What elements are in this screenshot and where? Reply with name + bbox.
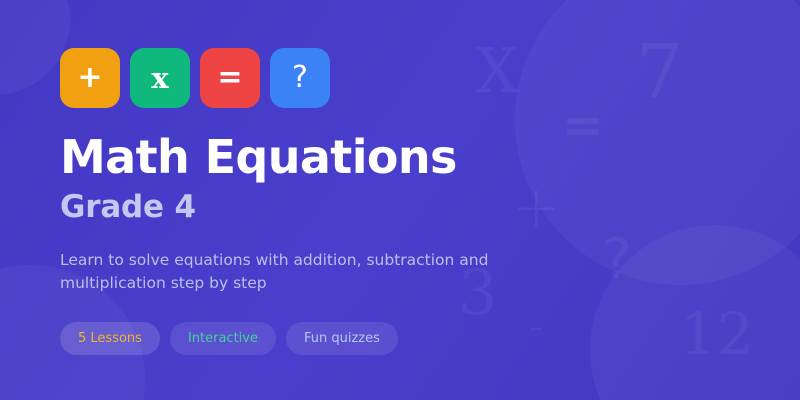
tile-plus[interactable]: + [60,48,120,108]
page-description: Learn to solve equations with addition, … [60,249,510,296]
badge-lessons[interactable]: 5 Lessons [60,322,160,355]
tile-question[interactable]: ? [270,48,330,108]
operator-tile-row: + x = ? [60,48,800,108]
badge-interactive[interactable]: Interactive [170,322,276,355]
badge-interactive-label: Interactive [188,331,258,346]
question-mark-icon: ? [292,63,308,93]
tile-equals[interactable]: = [200,48,260,108]
plus-icon: + [77,63,102,93]
badge-row: 5 Lessons Interactive Fun quizzes [60,322,800,355]
banner-content: + x = ? Math Equations Grade 4 Learn to … [0,0,800,355]
page-title: Math Equations [60,134,800,180]
math-equations-banner: X 7 = + ? 3 - 12 + x = ? Math Equations … [0,0,800,400]
badge-quizzes-label: Fun quizzes [304,331,380,346]
page-subtitle: Grade 4 [60,192,800,223]
tile-multiply[interactable]: x [130,48,190,108]
equals-icon: = [217,63,242,93]
badge-lessons-label: 5 Lessons [78,331,142,346]
multiply-icon: x [151,64,168,93]
badge-quizzes[interactable]: Fun quizzes [286,322,398,355]
